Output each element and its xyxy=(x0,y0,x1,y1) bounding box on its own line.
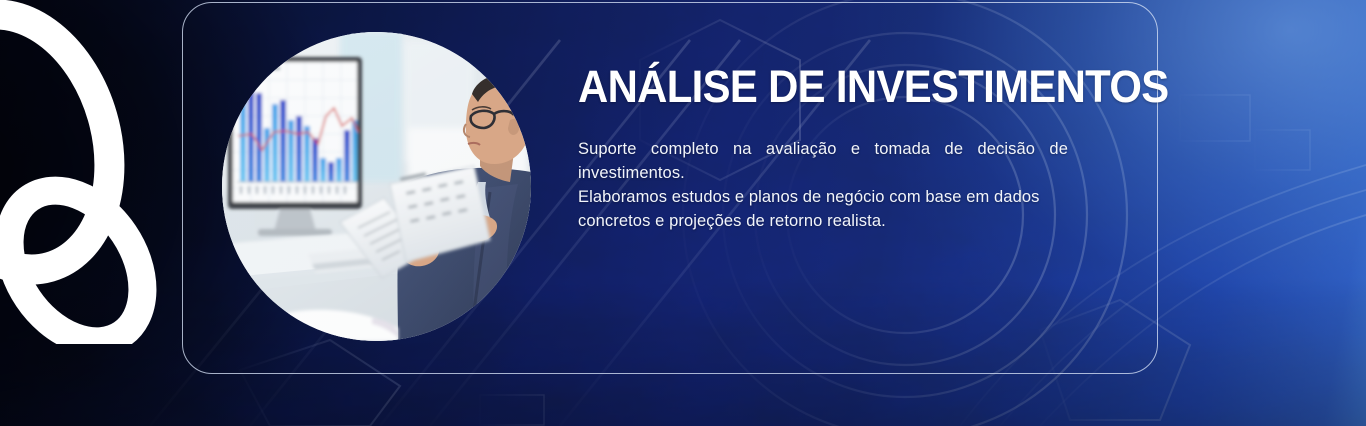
description-paragraph-1: Suporte completo na avaliação e tomada d… xyxy=(578,138,1068,185)
ribbon-loop-logo-icon xyxy=(0,0,166,344)
avatar xyxy=(222,32,531,341)
investment-analysis-banner: ANÁLISE DE INVESTIMENTOS Suporte complet… xyxy=(0,0,1366,426)
text-content: ANÁLISE DE INVESTIMENTOS Suporte complet… xyxy=(578,62,1068,233)
page-title: ANÁLISE DE INVESTIMENTOS xyxy=(578,62,1034,112)
description-paragraph-2: Elaboramos estudos e planos de negócio c… xyxy=(578,186,1068,233)
